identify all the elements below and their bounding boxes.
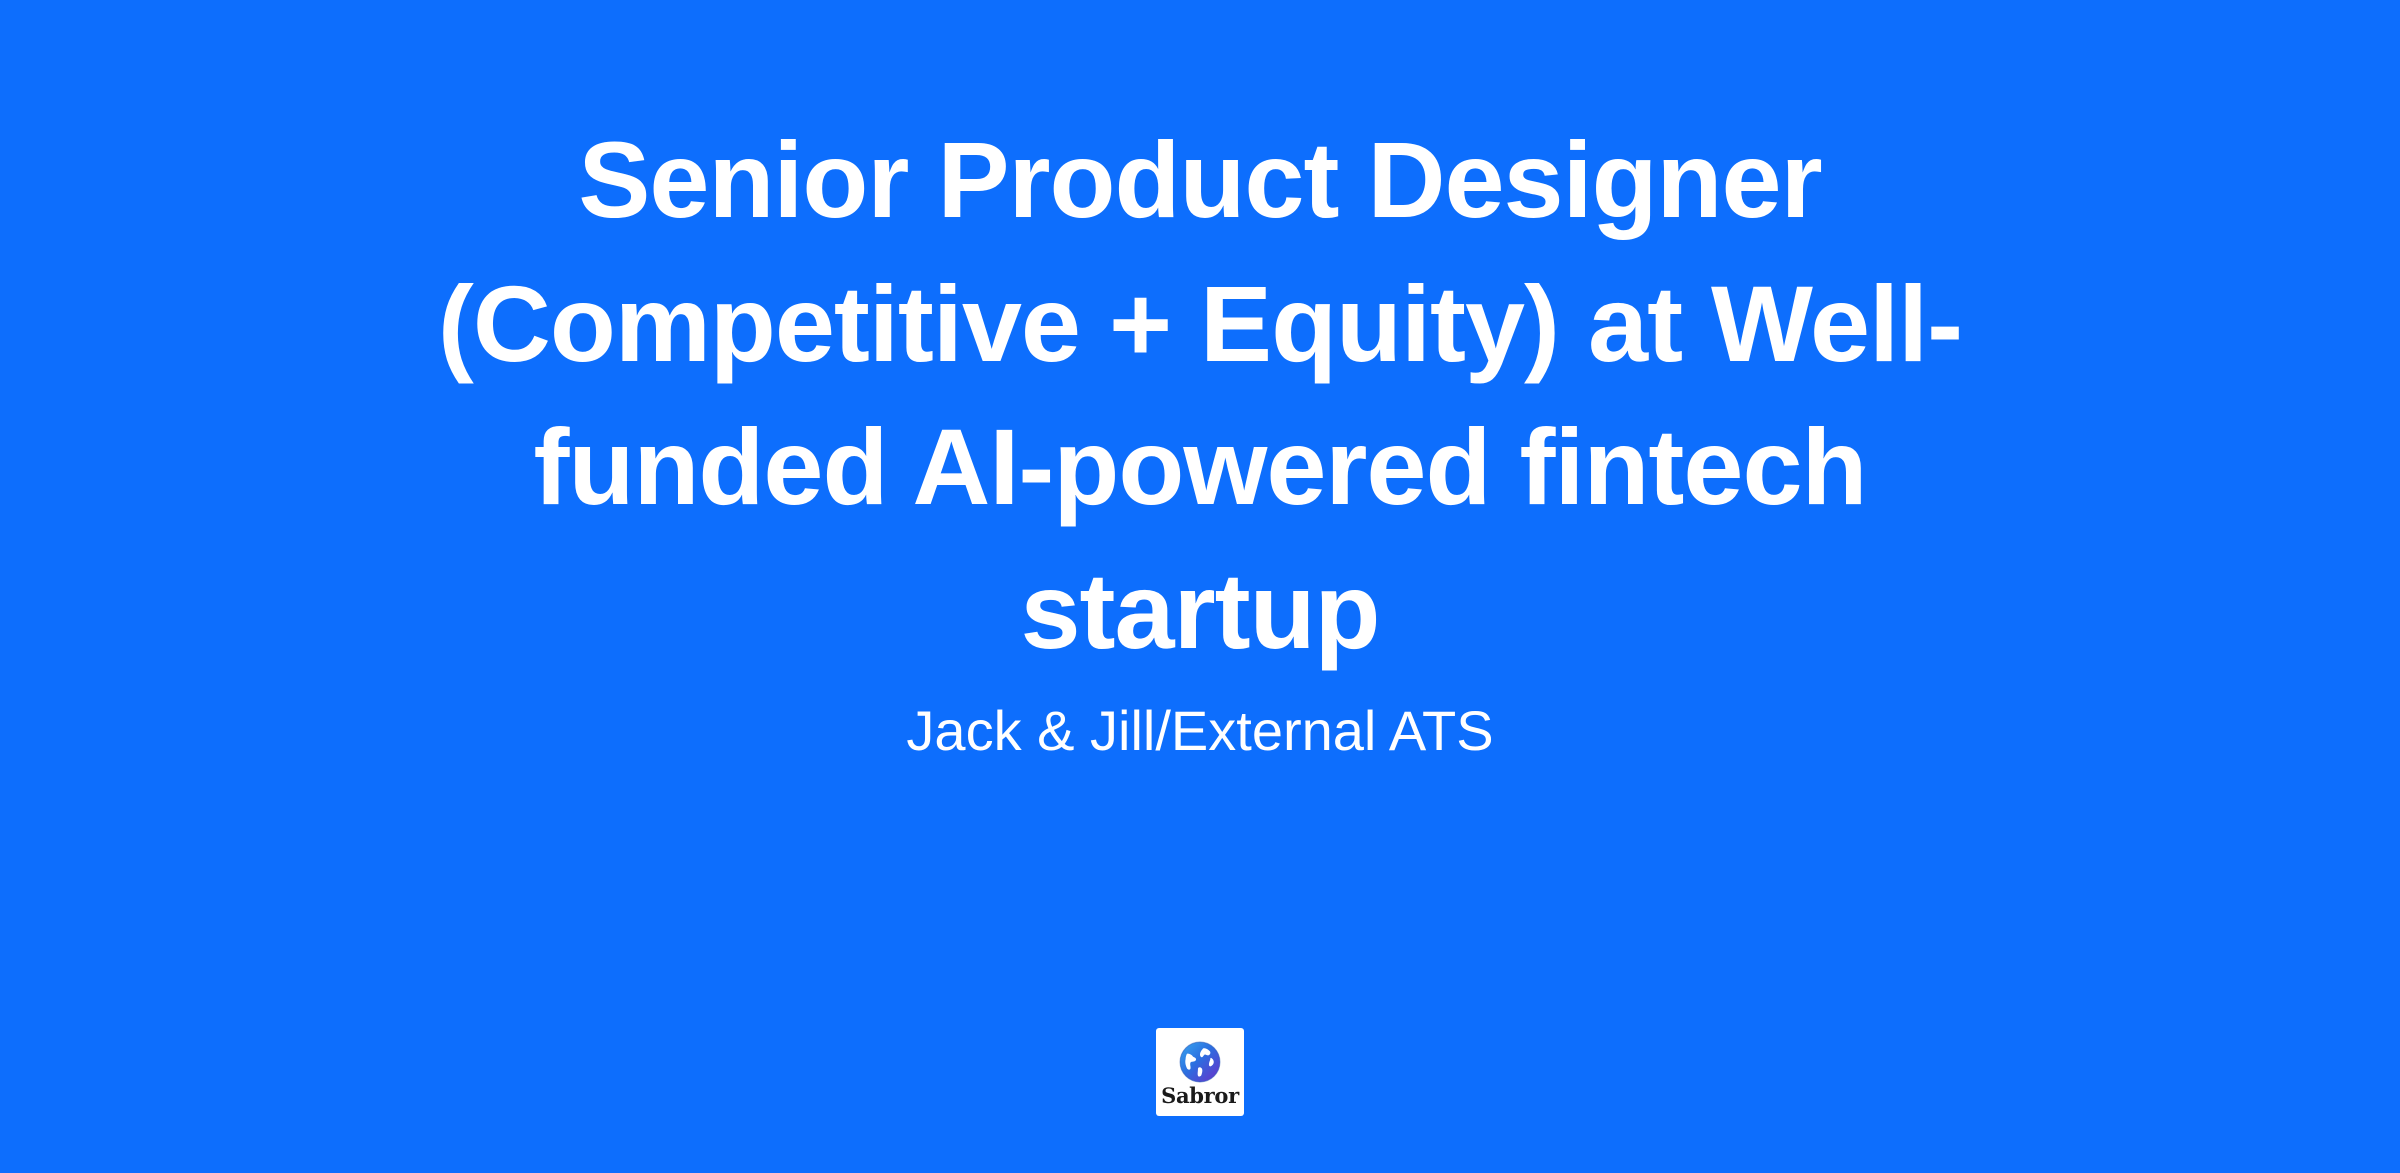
job-title: Senior Product Designer (Competitive + E… [340,108,2060,683]
brand-footer: Sabror [0,1028,2400,1116]
globe-icon [1178,1040,1222,1084]
brand-name: Sabror [1161,1085,1239,1106]
job-share-card: Senior Product Designer (Competitive + E… [0,0,2400,1173]
brand-logo: Sabror [1156,1028,1244,1116]
company-name: Jack & Jill/External ATS [340,695,2060,768]
job-content-block: Senior Product Designer (Competitive + E… [340,108,2060,767]
